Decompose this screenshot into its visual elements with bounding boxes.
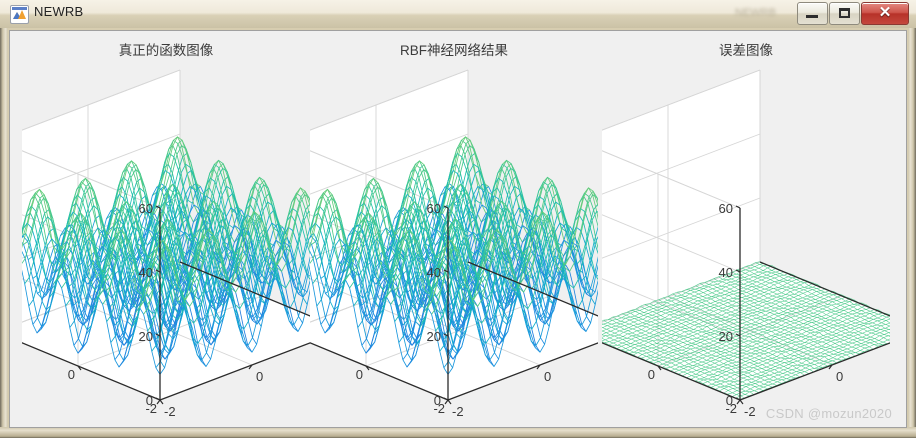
matlab-figure-icon bbox=[10, 5, 29, 24]
svg-text:60: 60 bbox=[427, 201, 441, 216]
window-title: NEWRB bbox=[34, 4, 83, 19]
svg-text:-2: -2 bbox=[725, 401, 737, 416]
svg-text:-2: -2 bbox=[433, 401, 445, 416]
svg-text:0: 0 bbox=[256, 369, 263, 384]
surface-plot-svg: 020406020-2-202 bbox=[22, 31, 310, 427]
maximize-icon bbox=[839, 8, 850, 18]
figure-canvas: 真正的函数图像 020406020-2-202 RBF神经网络结果 020406… bbox=[9, 30, 907, 428]
svg-text:-2: -2 bbox=[744, 404, 756, 419]
surface-plot-svg: 020406020-2-202 bbox=[310, 31, 598, 427]
svg-text:20: 20 bbox=[427, 329, 441, 344]
plot-error[interactable]: 误差图像 020406020-2-202 bbox=[602, 31, 890, 427]
window-controls: ✕ bbox=[796, 2, 909, 25]
plot-true-function[interactable]: 真正的函数图像 020406020-2-202 bbox=[22, 31, 310, 427]
minimize-icon bbox=[806, 15, 818, 18]
svg-text:-2: -2 bbox=[164, 404, 176, 419]
close-button[interactable]: ✕ bbox=[861, 2, 909, 25]
svg-text:40: 40 bbox=[719, 265, 733, 280]
svg-text:0: 0 bbox=[836, 369, 843, 384]
plot-rbf-result[interactable]: RBF神经网络结果 020406020-2-202 bbox=[310, 31, 598, 427]
watermark: CSDN @mozun2020 bbox=[766, 406, 892, 421]
svg-text:-2: -2 bbox=[145, 401, 157, 416]
screenshot-root: NEWRB NEWRB matlab ✕ 真正的函数图像 020406020-2… bbox=[0, 0, 916, 438]
svg-text:0: 0 bbox=[68, 367, 75, 382]
window-edge-left bbox=[0, 0, 8, 438]
svg-text:0: 0 bbox=[356, 367, 363, 382]
maximize-button[interactable] bbox=[829, 2, 860, 25]
window-edge-right bbox=[908, 0, 916, 438]
svg-text:60: 60 bbox=[139, 201, 153, 216]
svg-text:40: 40 bbox=[427, 265, 441, 280]
svg-text:60: 60 bbox=[719, 201, 733, 216]
svg-text:40: 40 bbox=[139, 265, 153, 280]
close-icon: ✕ bbox=[862, 3, 908, 22]
surface-plot-svg: 020406020-2-202 bbox=[602, 31, 890, 427]
svg-text:20: 20 bbox=[719, 329, 733, 344]
window-edge-bottom bbox=[0, 427, 916, 438]
ghost-title-text-1: NEWRB bbox=[735, 7, 776, 19]
svg-text:20: 20 bbox=[139, 329, 153, 344]
svg-text:0: 0 bbox=[648, 367, 655, 382]
title-bar[interactable]: NEWRB NEWRB matlab ✕ bbox=[0, 0, 916, 28]
svg-text:0: 0 bbox=[544, 369, 551, 384]
minimize-button[interactable] bbox=[797, 2, 828, 25]
svg-text:-2: -2 bbox=[452, 404, 464, 419]
